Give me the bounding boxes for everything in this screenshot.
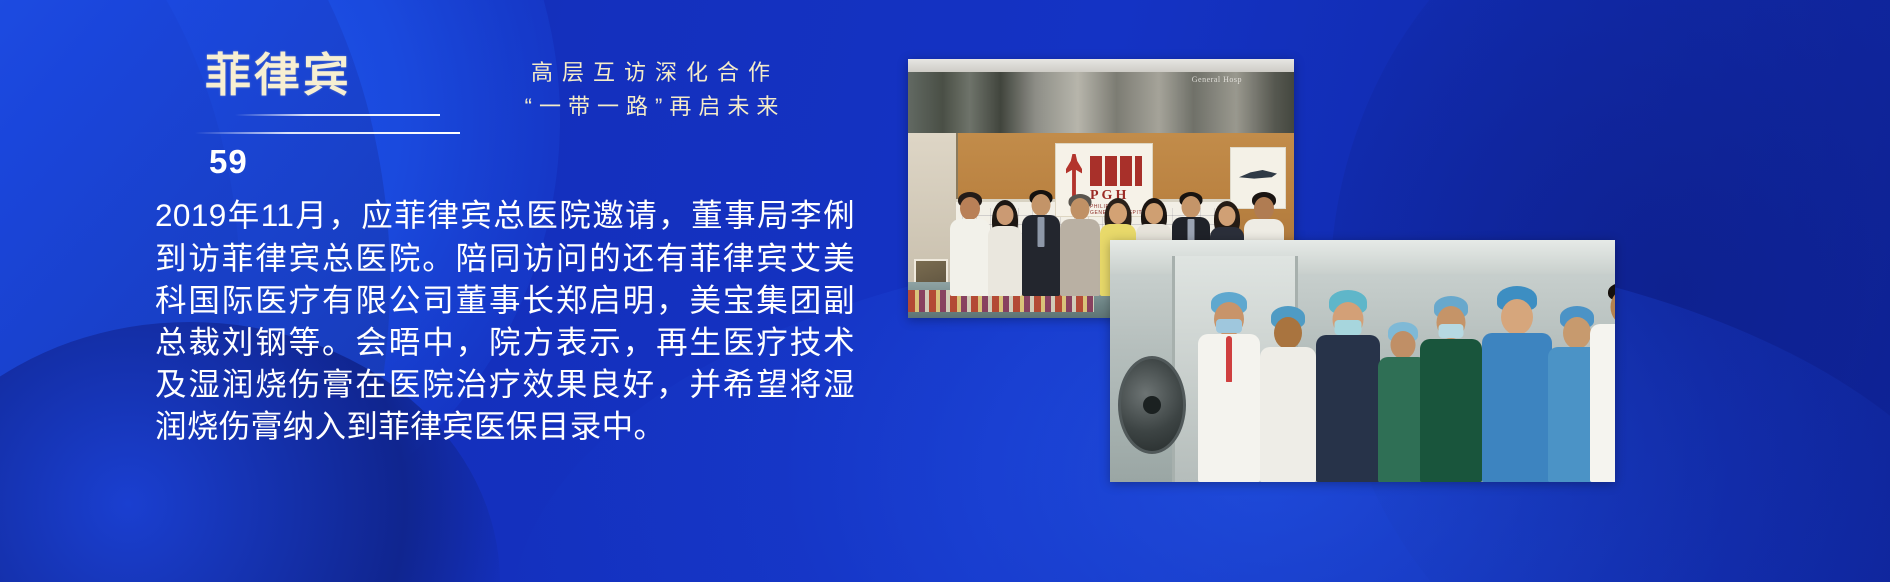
- head: [1254, 197, 1274, 220]
- photo2-people-group: [1110, 264, 1615, 482]
- photo2-person: [1198, 292, 1260, 482]
- head: [1563, 317, 1591, 349]
- head: [1145, 203, 1163, 224]
- photo1-mural-label: General Hosp: [1192, 75, 1242, 84]
- white-coat: [1260, 347, 1316, 482]
- head: [1501, 299, 1533, 335]
- title-rule-upper: [235, 114, 440, 116]
- hospital-staff-photo: MBO: [1110, 240, 1615, 482]
- head: [1219, 206, 1236, 226]
- photo1-mural-top-edge: [908, 59, 1294, 72]
- left-content-column: 菲律宾 59 2019年11月，应菲律宾总医院邀请，董事局李俐到访菲律宾总医院。…: [155, 52, 865, 448]
- green-scrubs: [1420, 339, 1482, 482]
- country-title: 菲律宾: [205, 52, 865, 98]
- photo2-person: [1316, 290, 1380, 482]
- blue-surgical-gown: [1482, 333, 1552, 482]
- photo1-person: [1022, 190, 1060, 296]
- photo1-person: [950, 192, 990, 296]
- torso: [1060, 219, 1100, 296]
- head: [997, 205, 1014, 225]
- necktie: [1038, 217, 1045, 247]
- mask: [1216, 319, 1242, 333]
- head: [1109, 203, 1127, 224]
- body-paragraph: 2019年11月，应菲律宾总医院邀请，董事局李俐到访菲律宾总医院。陪同访问的还有…: [155, 194, 855, 447]
- title-rule-lower: [195, 132, 460, 134]
- navy-scrubs: [1316, 335, 1380, 482]
- mask: [1439, 324, 1464, 338]
- photo2-person: [1260, 306, 1316, 482]
- photo1-wall-mural: General Hosp: [908, 59, 1294, 133]
- white-coat: [1590, 324, 1615, 482]
- torso: [988, 226, 1022, 296]
- mask: [1335, 320, 1362, 335]
- photo2-person: [1482, 286, 1552, 482]
- head: [1391, 331, 1416, 359]
- photo1-person: [988, 196, 1022, 296]
- lanyard: [1226, 336, 1232, 382]
- item-number: 59: [209, 144, 865, 180]
- photo1-person: [1060, 194, 1100, 296]
- head: [1182, 196, 1201, 218]
- photo2-person: [1590, 282, 1615, 482]
- head: [1032, 194, 1051, 216]
- head: [960, 197, 980, 220]
- title-underline-group: [155, 106, 865, 142]
- head: [1071, 198, 1090, 220]
- presentation-slide: 高层互访深化合作 “一带一路”再启未来 菲律宾 59 2019年11月，应菲律宾…: [0, 0, 1890, 582]
- head: [1274, 317, 1302, 349]
- torso: [950, 219, 990, 296]
- photo2-person: [1420, 296, 1482, 482]
